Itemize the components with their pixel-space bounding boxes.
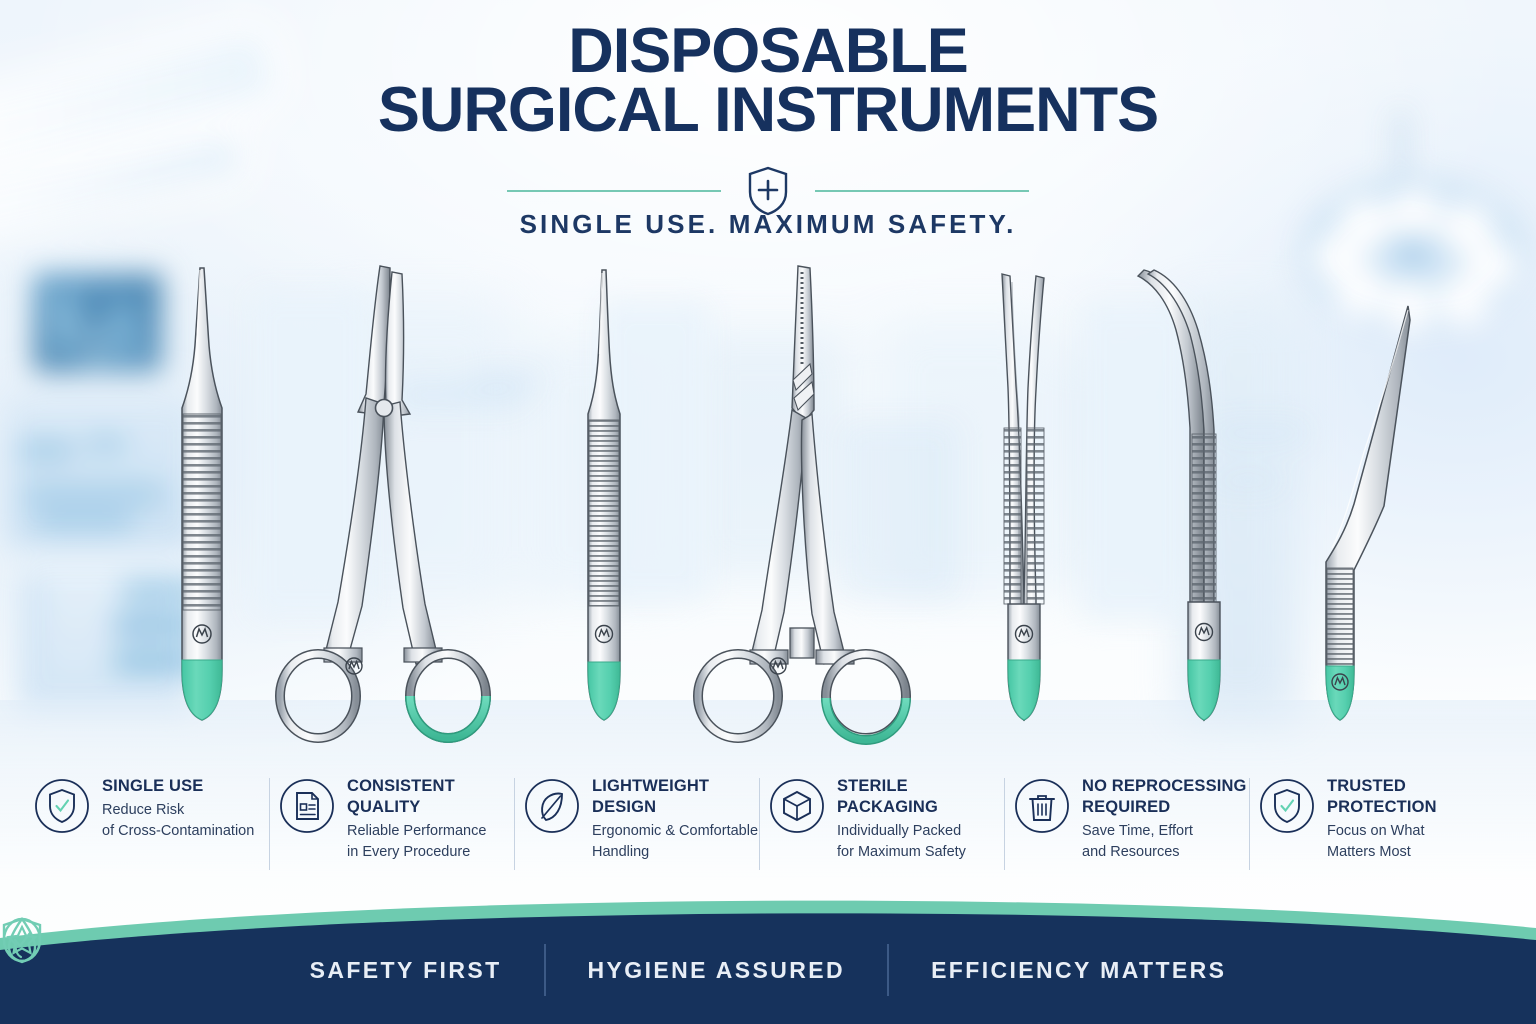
feature-subtitle: Ergonomic & Comfortable Handling xyxy=(592,821,758,863)
feature-item-consistent-quality: CONSISTENT QUALITY Reliable Performance … xyxy=(279,772,524,863)
instrument-gallery xyxy=(0,252,1536,752)
feature-item-lightweight-design: LIGHTWEIGHT DESIGN Ergonomic & Comfortab… xyxy=(524,772,769,863)
bottom-item-label: HYGIENE ASSURED xyxy=(588,957,846,984)
leaf-icon xyxy=(524,778,580,834)
feature-subtitle: Reliable Performance in Every Procedure xyxy=(347,821,486,863)
feature-title: NO REPROCESSING REQUIRED xyxy=(1082,776,1247,818)
feature-item-sterile-packaging: STERILE PACKAGING Individually Packed fo… xyxy=(769,772,1014,863)
instrument-surgical-scissors xyxy=(262,262,502,742)
feature-subtitle: Focus on What Matters Most xyxy=(1327,821,1437,863)
instrument-straight-dressing-forceps xyxy=(572,270,636,738)
bottom-bar-items: SAFETY FIRST HYGIENE ASSURED EFFICIENCY … xyxy=(0,916,1536,1024)
feature-title: TRUSTED PROTECTION xyxy=(1327,776,1437,818)
feature-item-single-use: SINGLE USE Reduce Risk of Cross-Contamin… xyxy=(34,772,279,842)
bottom-item-label: SAFETY FIRST xyxy=(310,957,502,984)
feature-item-trusted-protection: TRUSTED PROTECTION Focus on What Matters… xyxy=(1259,772,1504,863)
page-subtitle: SINGLE USE. MAXIMUM SAFETY. xyxy=(0,209,1536,240)
instrument-curved-tip-tweezers xyxy=(1132,268,1232,738)
feature-title: SINGLE USE xyxy=(102,776,254,797)
feature-title: CONSISTENT QUALITY xyxy=(347,776,486,818)
shield-check-icon xyxy=(1259,778,1315,834)
bottom-item-efficiency-matters: EFFICIENCY MATTERS xyxy=(931,957,1226,984)
instrument-adson-tissue-forceps xyxy=(160,268,244,738)
instrument-hemostat-needle-holder xyxy=(672,262,932,742)
feature-subtitle: Reduce Risk of Cross-Contamination xyxy=(102,800,254,842)
bottom-bar-divider xyxy=(887,944,889,996)
instrument-bayonet-angled-forceps xyxy=(1288,268,1416,738)
feature-subtitle: Individually Packed for Maximum Safety xyxy=(837,821,966,863)
page-title-line-2: SURGICAL INSTRUMENTS xyxy=(0,81,1536,140)
poster-canvas: DISPOSABLE SURGICAL INSTRUMENTS SINGLE U… xyxy=(0,0,1536,1024)
title-block: DISPOSABLE SURGICAL INSTRUMENTS xyxy=(0,22,1536,140)
divider-line-left xyxy=(507,190,721,192)
instrument-straight-tissue-tweezers xyxy=(988,268,1060,738)
bottom-item-label: EFFICIENCY MATTERS xyxy=(931,957,1226,984)
bottom-bar-divider xyxy=(544,944,546,996)
star-circle-icon xyxy=(0,916,44,964)
bottom-bar: SAFETY FIRST HYGIENE ASSURED EFFICIENCY … xyxy=(0,894,1536,1024)
bottom-item-hygiene-assured: HYGIENE ASSURED xyxy=(588,957,846,984)
cube-box-icon xyxy=(769,778,825,834)
divider-line-right xyxy=(815,190,1029,192)
feature-item-no-reprocessing: NO REPROCESSING REQUIRED Save Time, Effo… xyxy=(1014,772,1259,863)
document-certificate-icon xyxy=(279,778,335,834)
shield-check-icon xyxy=(34,778,90,834)
trash-bin-icon xyxy=(1014,778,1070,834)
feature-title: STERILE PACKAGING xyxy=(837,776,966,818)
bottom-item-safety-first: SAFETY FIRST xyxy=(310,957,502,984)
feature-row: SINGLE USE Reduce Risk of Cross-Contamin… xyxy=(34,772,1504,882)
feature-subtitle: Save Time, Effort and Resources xyxy=(1082,821,1247,863)
feature-title: LIGHTWEIGHT DESIGN xyxy=(592,776,758,818)
page-title-line-1: DISPOSABLE xyxy=(0,22,1536,81)
